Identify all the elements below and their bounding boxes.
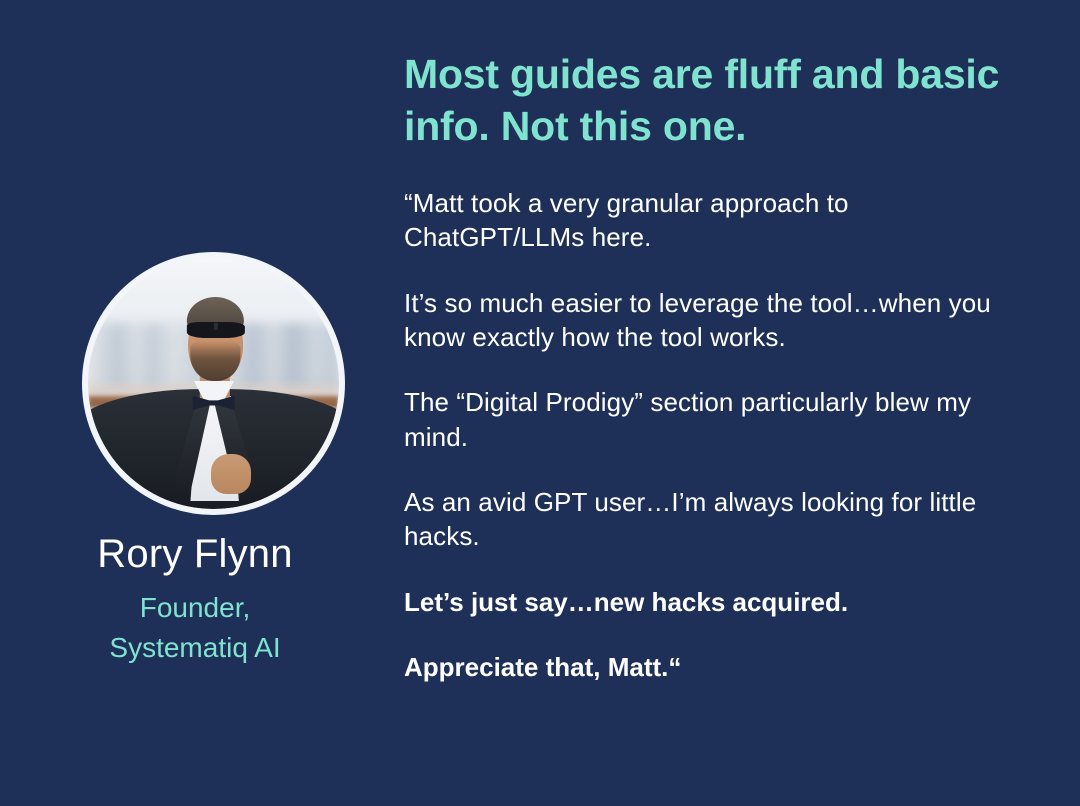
- quote-paragraph: Let’s just say…new hacks acquired.: [404, 585, 1004, 619]
- sunglasses-icon: [186, 322, 245, 338]
- quote-paragraph: It’s so much easier to leverage the tool…: [404, 286, 1004, 355]
- photo-hand: [211, 454, 251, 494]
- avatar: [82, 252, 345, 515]
- quote-paragraph: The “Digital Prodigy” section particular…: [404, 385, 1004, 454]
- person-role-line-1: Founder,: [0, 588, 390, 628]
- testimonial-column: Most guides are fluff and basic info. No…: [404, 0, 1024, 806]
- profile-column: Rory Flynn Founder, Systematiq AI: [0, 0, 390, 806]
- person-info: Rory Flynn Founder, Systematiq AI: [0, 532, 390, 668]
- person-role: Founder, Systematiq AI: [0, 588, 390, 668]
- quote-body: “Matt took a very granular approach to C…: [404, 186, 1004, 715]
- testimonial-card: Rory Flynn Founder, Systematiq AI Most g…: [0, 0, 1080, 806]
- quote-paragraph: As an avid GPT user…I’m always looking f…: [404, 485, 1004, 554]
- person-name: Rory Flynn: [0, 532, 390, 576]
- person-role-line-2: Systematiq AI: [0, 628, 390, 668]
- avatar-photo: [88, 258, 339, 509]
- quote-paragraph: Appreciate that, Matt.“: [404, 650, 1004, 684]
- headline: Most guides are fluff and basic info. No…: [404, 48, 1004, 153]
- quote-paragraph: “Matt took a very granular approach to C…: [404, 186, 1004, 255]
